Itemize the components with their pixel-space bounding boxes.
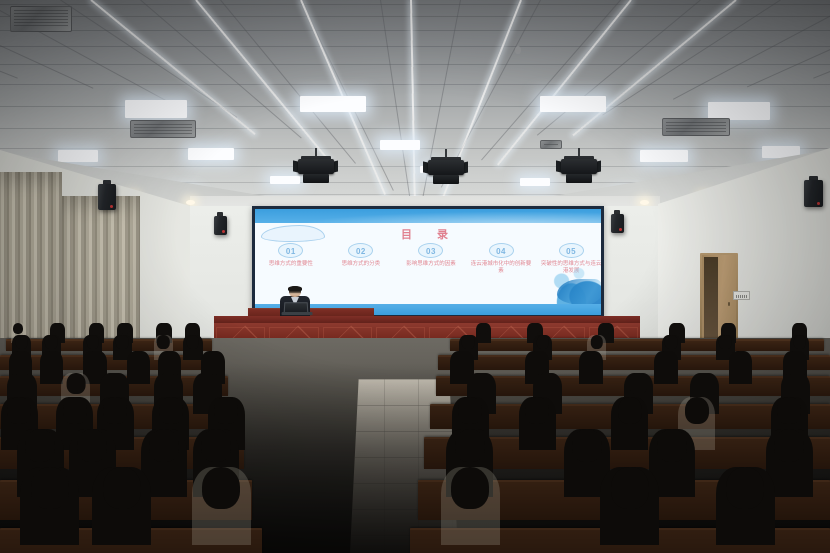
audience-member — [183, 335, 202, 360]
ceiling-panel-light — [125, 100, 187, 118]
slide-toc-item-03: 03影响思维方式的因素 — [398, 243, 464, 268]
audience-member — [441, 467, 500, 545]
speaker-cabinet-lower — [566, 174, 593, 183]
wall-control-plate[interactable] — [733, 291, 750, 300]
audience-member-head — [478, 323, 488, 334]
slide-toc-item-04: 04连云港城市化中的创新要素 — [468, 243, 534, 274]
audience-member-head — [657, 429, 687, 462]
audience-member-head — [13, 351, 28, 368]
toc-item-label: 连云港城市化中的创新要素 — [468, 261, 534, 274]
ceiling-tile-line — [481, 0, 621, 160]
toc-item-label: 思维方式的重要性 — [258, 261, 324, 268]
audience-member-head — [719, 335, 731, 349]
wall-speaker-right — [804, 176, 823, 203]
speaker-wing-right — [463, 161, 468, 173]
audience-member-head — [685, 397, 709, 423]
audience-member-head — [103, 397, 127, 423]
audience-member-head — [472, 373, 491, 394]
audience-member-head — [537, 335, 549, 349]
audience-member-head — [157, 335, 169, 349]
audience-member-head — [149, 429, 179, 462]
audience-member-head — [116, 335, 128, 349]
audience-member-head — [77, 429, 107, 462]
wall-speaker-right-far — [611, 210, 624, 229]
wall-speaker-left — [98, 180, 116, 206]
audience-member-head — [202, 467, 240, 509]
audience-member-head — [658, 351, 673, 368]
ceiling-air-vent — [662, 118, 730, 136]
audience-member-head — [794, 323, 804, 334]
presenter-hair — [288, 286, 302, 291]
audience-member-head — [131, 351, 146, 368]
ceiling-tile-line — [0, 64, 830, 65]
ceiling-tile-line — [0, 16, 830, 17]
speaker-body — [611, 214, 624, 233]
ceiling-panel-light — [380, 140, 420, 150]
speaker-wing-right — [333, 160, 338, 172]
toc-number-badge: 05 — [559, 243, 584, 258]
audience-member-head — [16, 335, 28, 349]
audience-member-head — [105, 373, 124, 394]
ceiling-tile-line — [0, 4, 830, 5]
audience-member-head — [214, 397, 238, 423]
audience-member-head — [777, 397, 801, 423]
ceiling-panel-light — [520, 178, 550, 186]
audience-member-head — [25, 429, 55, 462]
audience-member-head — [591, 335, 603, 349]
audience-member-head — [31, 467, 69, 509]
sprinkler-head — [515, 46, 521, 54]
audience-member-head — [205, 351, 220, 368]
audience-member-head — [726, 467, 764, 509]
ceiling-air-vent — [10, 6, 72, 32]
audience-member-head — [198, 373, 217, 394]
audience-member-head — [187, 323, 197, 334]
speaker-cabinet-lower — [433, 175, 460, 184]
audience-member — [654, 351, 678, 384]
presenter-laptop — [284, 302, 309, 313]
audience-member-head — [159, 323, 169, 334]
ceiling-panel-light — [188, 148, 234, 160]
ceiling-panel-light — [640, 150, 688, 162]
speaker-cabinet-upper — [428, 160, 465, 175]
audience-member-head — [787, 351, 802, 368]
slide-toc-item-02: 02思维方式的分类 — [328, 243, 394, 268]
audience-member-head — [87, 351, 102, 368]
audience-member — [192, 467, 251, 545]
ceiling-air-vent — [130, 120, 196, 138]
door-recess — [704, 257, 718, 339]
audience-member-head — [455, 429, 485, 462]
audience-member-head — [629, 373, 648, 394]
audience-member-head — [793, 335, 805, 349]
downlight — [640, 200, 649, 205]
audience-member-head — [120, 323, 130, 334]
audience-member — [40, 351, 64, 384]
speaker-cabinet-upper — [561, 159, 598, 174]
audience-member-head — [695, 373, 714, 394]
audience-member-head — [45, 335, 57, 349]
audience-member-head — [525, 397, 549, 423]
conference-hall-scene: 目 录 01思维方式的重要性02思维方式的分类03影响思维方式的因素04连云港城… — [0, 0, 830, 553]
audience-member — [729, 351, 753, 384]
audience-member-head — [538, 373, 557, 394]
audience-member-head — [458, 397, 482, 423]
audience-member — [127, 351, 151, 384]
slide-title: 目 录 — [255, 226, 601, 242]
slide-toc-item-01: 01思维方式的重要性 — [258, 243, 324, 268]
audience-member-head — [63, 397, 87, 423]
audience-member-head — [454, 351, 469, 368]
audience-member-head — [53, 323, 63, 334]
audience-member — [716, 467, 775, 545]
audience-member-head — [530, 323, 540, 334]
speaker-cabinet-lower — [303, 174, 330, 183]
hanging-speaker-center — [425, 149, 467, 187]
toc-number-badge: 03 — [418, 243, 443, 258]
audience-member — [600, 467, 659, 545]
seat-row[interactable] — [438, 355, 830, 370]
audience-member — [519, 397, 556, 450]
speaker-led-icon — [817, 202, 820, 205]
toc-item-label: 思维方式的分类 — [328, 261, 394, 268]
speaker-cabinet-upper — [298, 159, 335, 174]
audience-member-head — [618, 397, 642, 423]
audience-member-head — [774, 429, 804, 462]
speaker-wing-right — [596, 160, 601, 172]
audience-member-head — [13, 373, 32, 394]
ceiling-strip-light — [497, 0, 632, 166]
ceiling-tile-line — [380, 0, 412, 210]
audience-member — [92, 467, 151, 545]
ceiling-tile-line — [0, 30, 830, 31]
audience-member-head — [601, 323, 611, 334]
toc-number-badge: 04 — [489, 243, 514, 258]
speaker-led-icon — [222, 230, 225, 233]
audience-member-head — [611, 467, 649, 509]
ceiling-panel-light — [300, 96, 366, 112]
audience-member-head — [7, 397, 31, 423]
ceiling-panel-light — [58, 150, 98, 162]
audience-member-head — [451, 467, 489, 509]
seat-row[interactable] — [6, 339, 212, 351]
speaker-led-icon — [110, 205, 113, 208]
audience-member-head — [13, 323, 23, 334]
speaker-led-icon — [619, 228, 622, 231]
speaker-body — [98, 184, 116, 210]
audience-member — [611, 397, 648, 450]
audience-member-head — [159, 397, 183, 423]
audience-member — [579, 351, 603, 384]
audience-member-head — [162, 351, 177, 368]
audience-member-head — [672, 323, 682, 334]
audience-member-head — [462, 335, 474, 349]
ceiling-tile-line — [0, 84, 830, 85]
toc-number-badge: 01 — [278, 243, 303, 258]
ceiling-tile-line — [813, 0, 830, 79]
audience-member-head — [786, 373, 805, 394]
audience-member-head — [665, 335, 677, 349]
seat-row[interactable] — [450, 339, 824, 351]
audience-member-head — [86, 335, 98, 349]
audience-member — [20, 467, 79, 545]
toc-item-label: 影响思维方式的因素 — [398, 261, 464, 268]
ceiling-panel-light — [540, 96, 606, 112]
hanging-speaker-right — [558, 148, 600, 186]
audience-member-head — [187, 335, 199, 349]
wall-speaker-left-far — [214, 212, 227, 231]
audience-member-head — [723, 323, 733, 334]
slide-header-band — [255, 209, 601, 223]
audience-member-head — [733, 351, 748, 368]
speaker-body — [214, 216, 227, 235]
audience-member-head — [103, 467, 141, 509]
audience-member-head — [66, 373, 85, 394]
speaker-body — [804, 180, 823, 207]
audience-member-head — [92, 323, 102, 334]
hanging-speaker-left — [295, 148, 337, 186]
toc-number-badge: 02 — [348, 243, 373, 258]
water-splash-graphic — [543, 259, 601, 307]
audience-member-head — [201, 429, 231, 462]
door-knob-icon[interactable] — [728, 302, 730, 306]
audience-member-head — [44, 351, 59, 368]
audience-member-head — [572, 429, 602, 462]
audience-member-head — [159, 373, 178, 394]
audience-member-head — [583, 351, 598, 368]
audience-member-head — [529, 351, 544, 368]
downlight — [186, 200, 195, 205]
